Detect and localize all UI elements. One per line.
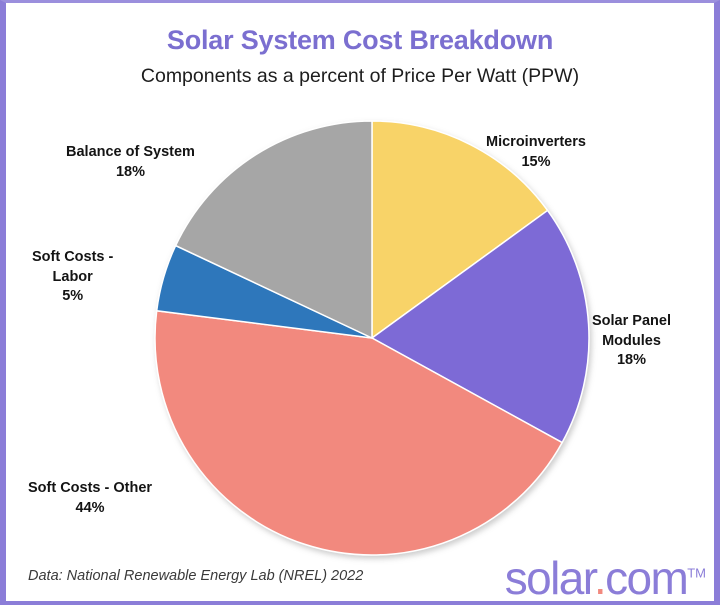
- slice-label-solar-panel-modules-percent: 18%: [592, 351, 671, 371]
- slice-label-balance-of-system: Balance of System 18%: [66, 143, 195, 182]
- slice-label-balance-of-system-percent: 18%: [66, 163, 195, 183]
- slice-label-soft-costs-labor-line2: Labor: [32, 268, 113, 288]
- brand-logo[interactable]: solar.comTM: [505, 555, 706, 601]
- brand-logo-dot: .: [594, 552, 605, 604]
- slice-label-soft-costs-other-name: Soft Costs - Other: [28, 479, 152, 499]
- brand-logo-trademark: TM: [687, 566, 706, 581]
- slice-label-solar-panel-modules-line2: Modules: [592, 332, 671, 352]
- slice-label-balance-of-system-name: Balance of System: [66, 143, 195, 163]
- slice-label-microinverters-percent: 15%: [486, 153, 586, 173]
- slice-label-soft-costs-labor-percent: 5%: [32, 287, 113, 307]
- infographic-card: Solar System Cost Breakdown Components a…: [0, 0, 720, 605]
- slice-label-soft-costs-other-percent: 44%: [28, 499, 152, 519]
- brand-logo-name: solar: [505, 552, 594, 604]
- slice-label-microinverters: Microinverters 15%: [486, 133, 586, 172]
- slice-label-soft-costs-labor: Soft Costs - Labor 5%: [32, 248, 113, 307]
- slice-label-solar-panel-modules-line1: Solar Panel: [592, 312, 671, 332]
- slice-label-soft-costs-other: Soft Costs - Other 44%: [28, 479, 152, 518]
- slice-label-soft-costs-labor-line1: Soft Costs -: [32, 248, 113, 268]
- slice-label-microinverters-name: Microinverters: [486, 133, 586, 153]
- data-source-note: Data: National Renewable Energy Lab (NRE…: [28, 568, 363, 584]
- slice-label-solar-panel-modules: Solar Panel Modules 18%: [592, 312, 671, 371]
- brand-logo-tld: com: [605, 552, 687, 604]
